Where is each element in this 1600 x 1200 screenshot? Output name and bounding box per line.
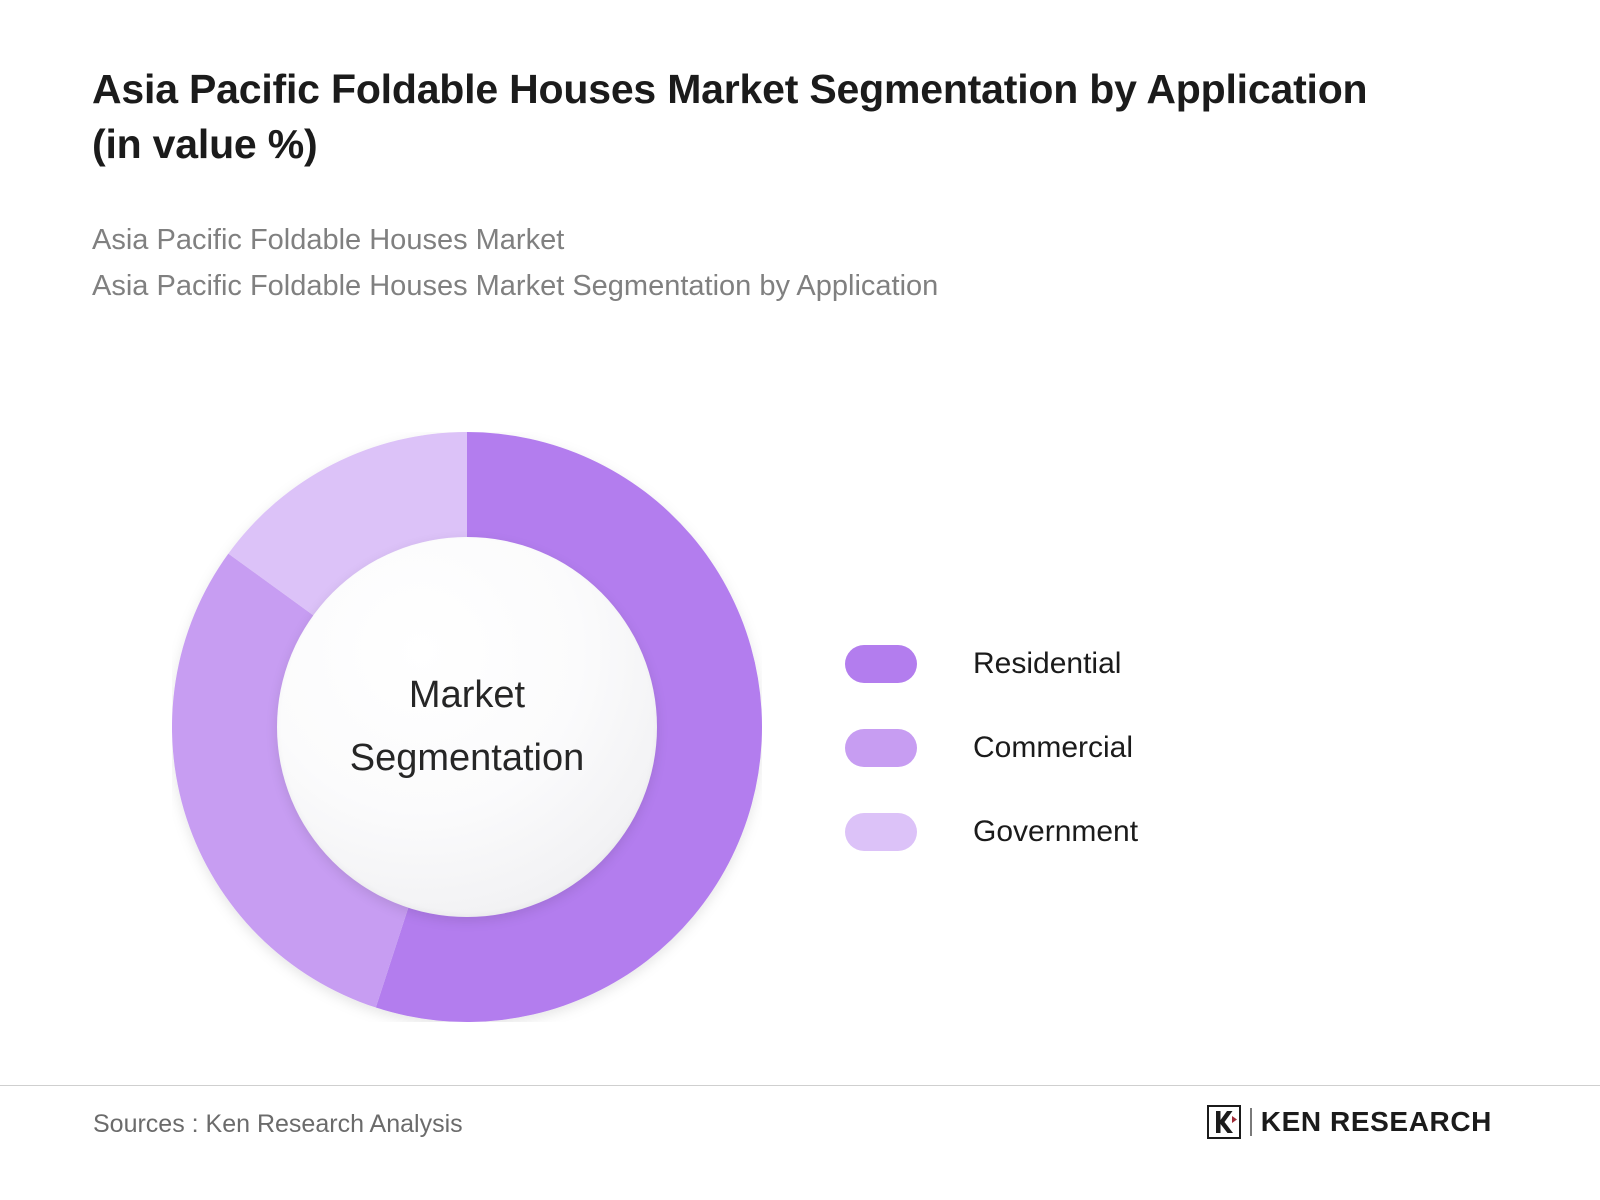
- legend-item[interactable]: Residential: [845, 622, 1365, 706]
- logo-text: KEN RESEARCH: [1261, 1106, 1492, 1138]
- subtitle-line-1: Asia Pacific Foldable Houses Market: [92, 217, 1452, 263]
- sources-text: Sources : Ken Research Analysis: [93, 1110, 463, 1139]
- legend-item-label: Government: [973, 815, 1138, 849]
- footer: Sources : Ken Research Analysis KEN RESE…: [0, 1086, 1600, 1200]
- logo-divider: [1250, 1108, 1252, 1136]
- donut-center-label: Market Segmentation: [277, 537, 657, 917]
- legend-pill-swatch: [845, 729, 917, 767]
- legend-pill-swatch: [845, 645, 917, 683]
- ken-research-logo: KEN RESEARCH: [1207, 1102, 1492, 1142]
- legend-pill-swatch: [845, 813, 917, 851]
- page-title: Asia Pacific Foldable Houses Market Segm…: [92, 62, 1412, 173]
- legend-item-label: Commercial: [973, 731, 1133, 765]
- slide-root: Asia Pacific Foldable Houses Market Segm…: [0, 0, 1600, 1200]
- subtitle-line-2: Asia Pacific Foldable Houses Market Segm…: [92, 263, 1452, 309]
- header: Asia Pacific Foldable Houses Market Segm…: [92, 62, 1452, 309]
- legend-item[interactable]: Commercial: [845, 706, 1365, 790]
- chart-area: Market Segmentation ResidentialCommercia…: [0, 400, 1600, 1060]
- legend-item[interactable]: Government: [845, 790, 1365, 874]
- donut-center-line-2: Segmentation: [350, 727, 585, 790]
- ken-research-k-mark-icon: [1207, 1105, 1241, 1139]
- chart-legend: ResidentialCommercialGovernment: [845, 622, 1365, 874]
- subtitle-block: Asia Pacific Foldable Houses Market Asia…: [92, 217, 1452, 310]
- legend-item-label: Residential: [973, 647, 1121, 681]
- donut-center-line-1: Market: [409, 664, 525, 727]
- donut-chart: Market Segmentation: [172, 432, 762, 1022]
